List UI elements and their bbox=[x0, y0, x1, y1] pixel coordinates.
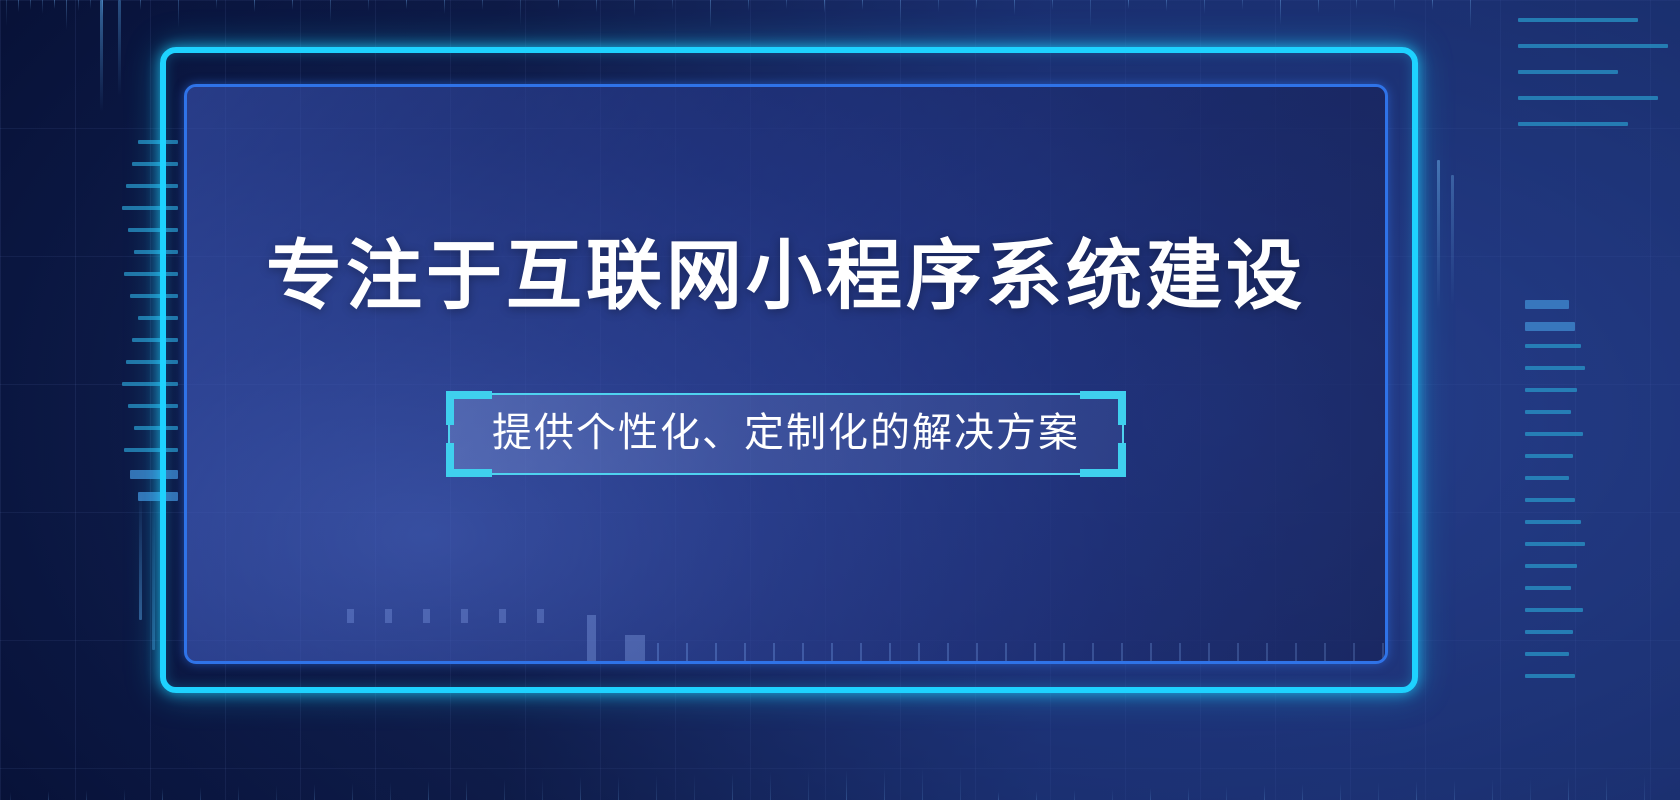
page-subtitle: 提供个性化、定制化的解决方案 bbox=[492, 409, 1080, 457]
tick-mark bbox=[406, 0, 407, 9]
tick-mark bbox=[1356, 0, 1357, 9]
tick-mark bbox=[710, 0, 711, 28]
tick-mark bbox=[314, 784, 315, 800]
tick-mark bbox=[330, 0, 331, 22]
tick-mark bbox=[884, 769, 885, 800]
tick-mark bbox=[1525, 542, 1585, 546]
tick-mark bbox=[1568, 777, 1569, 800]
tick-mark bbox=[1036, 791, 1037, 800]
tick-mark bbox=[90, 0, 91, 9]
tick-mark bbox=[1518, 70, 1618, 74]
tick-mark bbox=[102, 0, 103, 16]
tick-mark bbox=[1518, 44, 1668, 48]
tick-mark bbox=[466, 780, 467, 800]
tick-mark bbox=[1416, 781, 1417, 800]
tick-mark bbox=[824, 0, 825, 13]
right-upper-dash-decoration bbox=[1518, 18, 1668, 138]
tick-mark bbox=[444, 0, 445, 14]
tick-mark bbox=[1378, 782, 1379, 800]
tick-mark bbox=[254, 0, 255, 12]
tick-mark bbox=[1264, 785, 1265, 800]
tick-mark bbox=[1318, 0, 1319, 13]
tick-mark bbox=[1204, 0, 1205, 14]
tick-mark bbox=[1525, 366, 1585, 370]
tick-mark bbox=[1150, 788, 1151, 800]
tick-mark bbox=[1394, 0, 1395, 12]
tick-mark bbox=[42, 0, 43, 14]
tick-mark bbox=[66, 0, 67, 30]
tick-mark bbox=[276, 785, 277, 800]
tick-mark bbox=[10, 792, 11, 800]
tick-mark bbox=[596, 0, 597, 12]
tick-mark bbox=[54, 0, 55, 9]
tick-mark bbox=[1525, 652, 1569, 656]
tick-mark bbox=[618, 776, 619, 800]
tick-mark bbox=[428, 781, 429, 800]
tick-mark bbox=[770, 772, 771, 800]
tick-mark bbox=[900, 0, 901, 24]
right-dash-stack-decoration bbox=[1525, 300, 1585, 700]
tick-mark bbox=[6, 0, 7, 26]
tick-mark bbox=[1052, 0, 1053, 10]
tick-mark bbox=[352, 783, 353, 800]
tick-mark bbox=[1128, 0, 1129, 9]
tick-mark bbox=[48, 791, 49, 800]
tick-mark bbox=[1302, 784, 1303, 800]
tick-mark bbox=[748, 0, 749, 11]
tick-mark bbox=[124, 789, 125, 800]
tick-mark bbox=[1492, 779, 1493, 800]
tick-mark bbox=[292, 0, 293, 10]
tick-mark bbox=[846, 770, 847, 800]
tick-mark bbox=[1525, 586, 1571, 590]
tick-mark bbox=[482, 0, 483, 10]
tick-mark bbox=[1525, 608, 1583, 612]
tick-mark bbox=[672, 0, 673, 10]
tick-mark bbox=[1074, 790, 1075, 800]
tick-mark bbox=[1166, 0, 1167, 11]
tick-mark bbox=[1432, 0, 1433, 10]
tick-mark bbox=[976, 0, 977, 9]
tick-mark bbox=[1525, 432, 1583, 436]
tick-mark bbox=[1518, 96, 1658, 100]
tick-mark bbox=[1525, 476, 1569, 480]
tick-mark bbox=[18, 0, 19, 12]
tick-mark bbox=[656, 775, 657, 800]
tick-mark bbox=[1280, 0, 1281, 25]
tick-mark bbox=[1606, 776, 1607, 800]
tick-mark bbox=[1014, 0, 1015, 15]
tick-mark bbox=[1644, 775, 1645, 800]
tick-mark bbox=[1525, 498, 1575, 502]
tick-mark bbox=[558, 0, 559, 9]
tick-mark bbox=[1518, 122, 1628, 126]
banner-content: 专注于互联网小程序系统建设 提供个性化、定制化的解决方案 bbox=[184, 84, 1388, 664]
tick-mark bbox=[1525, 388, 1577, 392]
tick-mark bbox=[86, 790, 87, 800]
tick-mark bbox=[1226, 786, 1227, 800]
tick-mark bbox=[140, 0, 141, 10]
tick-mark bbox=[520, 0, 521, 26]
tick-mark bbox=[1530, 778, 1531, 800]
tick-mark bbox=[732, 773, 733, 800]
tick-mark bbox=[580, 777, 581, 800]
tick-mark bbox=[1112, 789, 1113, 800]
tick-mark bbox=[1525, 454, 1573, 458]
tick-mark bbox=[1090, 0, 1091, 27]
tick-mark bbox=[808, 771, 809, 800]
tick-mark bbox=[786, 0, 787, 9]
thin-bar-decoration bbox=[139, 490, 142, 620]
top-tick-marks bbox=[0, 0, 1680, 34]
tick-mark bbox=[1525, 410, 1571, 414]
banner-stage: 专注于互联网小程序系统建设 提供个性化、定制化的解决方案 bbox=[0, 0, 1680, 800]
page-title: 专注于互联网小程序系统建设 bbox=[266, 239, 1306, 315]
tick-mark bbox=[178, 0, 179, 28]
bottom-tick-marks bbox=[0, 762, 1680, 800]
tick-mark bbox=[390, 782, 391, 800]
tick-mark bbox=[1525, 520, 1581, 524]
thin-bar-decoration bbox=[1451, 175, 1454, 305]
tick-mark bbox=[1454, 780, 1455, 800]
tick-mark bbox=[922, 768, 923, 800]
tick-mark bbox=[1188, 787, 1189, 800]
tick-mark bbox=[1340, 783, 1341, 800]
bracket-edge-top bbox=[458, 393, 1114, 395]
thin-bar-decoration bbox=[100, 0, 103, 112]
tick-mark bbox=[1470, 0, 1471, 29]
tick-mark bbox=[238, 786, 239, 800]
tick-mark bbox=[1242, 0, 1243, 10]
subtitle-bracket-box: 提供个性化、定制化的解决方案 bbox=[448, 393, 1124, 475]
tick-mark bbox=[200, 787, 201, 800]
tick-mark bbox=[998, 792, 999, 800]
tick-mark bbox=[542, 778, 543, 800]
tick-mark bbox=[162, 788, 163, 800]
tick-mark bbox=[862, 0, 863, 10]
thin-bar-decoration bbox=[1437, 160, 1440, 310]
tick-mark bbox=[1525, 300, 1569, 309]
tick-mark bbox=[694, 774, 695, 800]
tick-mark bbox=[1525, 564, 1577, 568]
tick-mark bbox=[960, 767, 961, 800]
tick-mark bbox=[1518, 18, 1638, 22]
tick-mark bbox=[78, 0, 79, 11]
tick-mark bbox=[634, 0, 635, 16]
thin-bar-decoration bbox=[152, 500, 155, 650]
bracket-edge-bottom bbox=[458, 473, 1114, 475]
tick-mark bbox=[1525, 322, 1575, 331]
tick-mark bbox=[368, 0, 369, 11]
tick-mark bbox=[1525, 630, 1573, 634]
tick-mark bbox=[1525, 674, 1575, 678]
tick-mark bbox=[938, 0, 939, 12]
thin-bar-decoration bbox=[118, 0, 121, 96]
tick-mark bbox=[30, 0, 31, 10]
tick-mark bbox=[216, 0, 217, 9]
tick-mark bbox=[504, 779, 505, 800]
tick-mark bbox=[1525, 344, 1581, 348]
